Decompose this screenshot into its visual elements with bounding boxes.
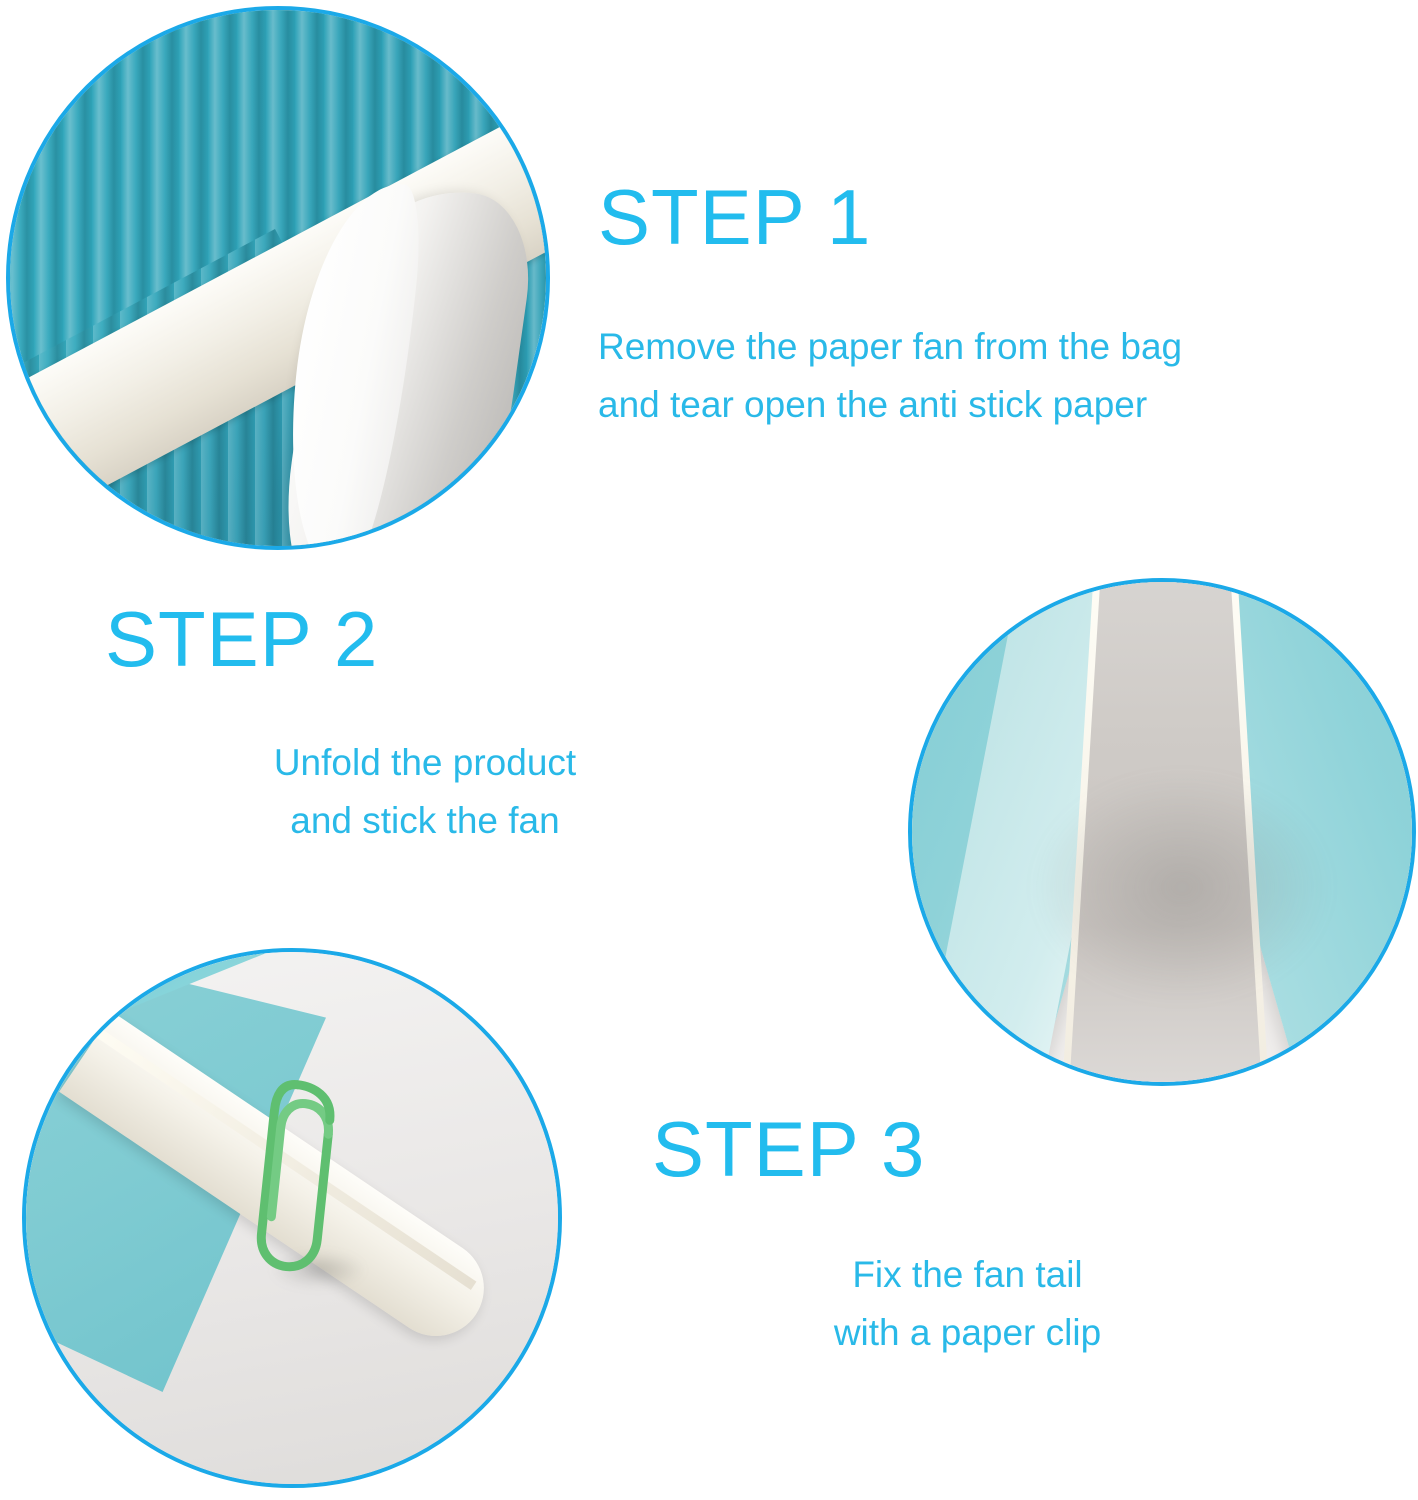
step-1-text-block: STEP 1 Remove the paper fan from the bag… bbox=[598, 178, 1182, 435]
paper-clip-fixing-tail-photo bbox=[26, 952, 558, 1484]
step-3-line-2: with a paper clip bbox=[640, 1304, 1295, 1362]
panel-shadow-shape bbox=[1032, 772, 1332, 1002]
step-1-line-1: Remove the paper fan from the bag bbox=[598, 318, 1182, 376]
step-3-line-1: Fix the fan tail bbox=[640, 1246, 1295, 1304]
step-1-line-2: and tear open the anti stick paper bbox=[598, 376, 1182, 434]
step-3-text-block: STEP 3 Fix the fan tail with a paper cli… bbox=[640, 1110, 1295, 1363]
step-3-title: STEP 3 bbox=[652, 1110, 1295, 1188]
step-2-line-1: Unfold the product bbox=[95, 734, 755, 792]
step-1-title: STEP 1 bbox=[598, 178, 1182, 256]
step-2-title: STEP 2 bbox=[105, 600, 755, 678]
step-2-photo-circle bbox=[908, 578, 1416, 1086]
unfolded-product-photo bbox=[912, 582, 1412, 1082]
step-3-photo-circle bbox=[22, 948, 562, 1488]
folded-fan-peeling-backing-photo bbox=[10, 10, 546, 546]
step-2-text-block: STEP 2 Unfold the product and stick the … bbox=[95, 600, 755, 851]
step-2-line-2: and stick the fan bbox=[95, 792, 755, 850]
step-1-photo-circle bbox=[6, 6, 550, 550]
instruction-sheet: STEP 1 Remove the paper fan from the bag… bbox=[0, 0, 1418, 1500]
